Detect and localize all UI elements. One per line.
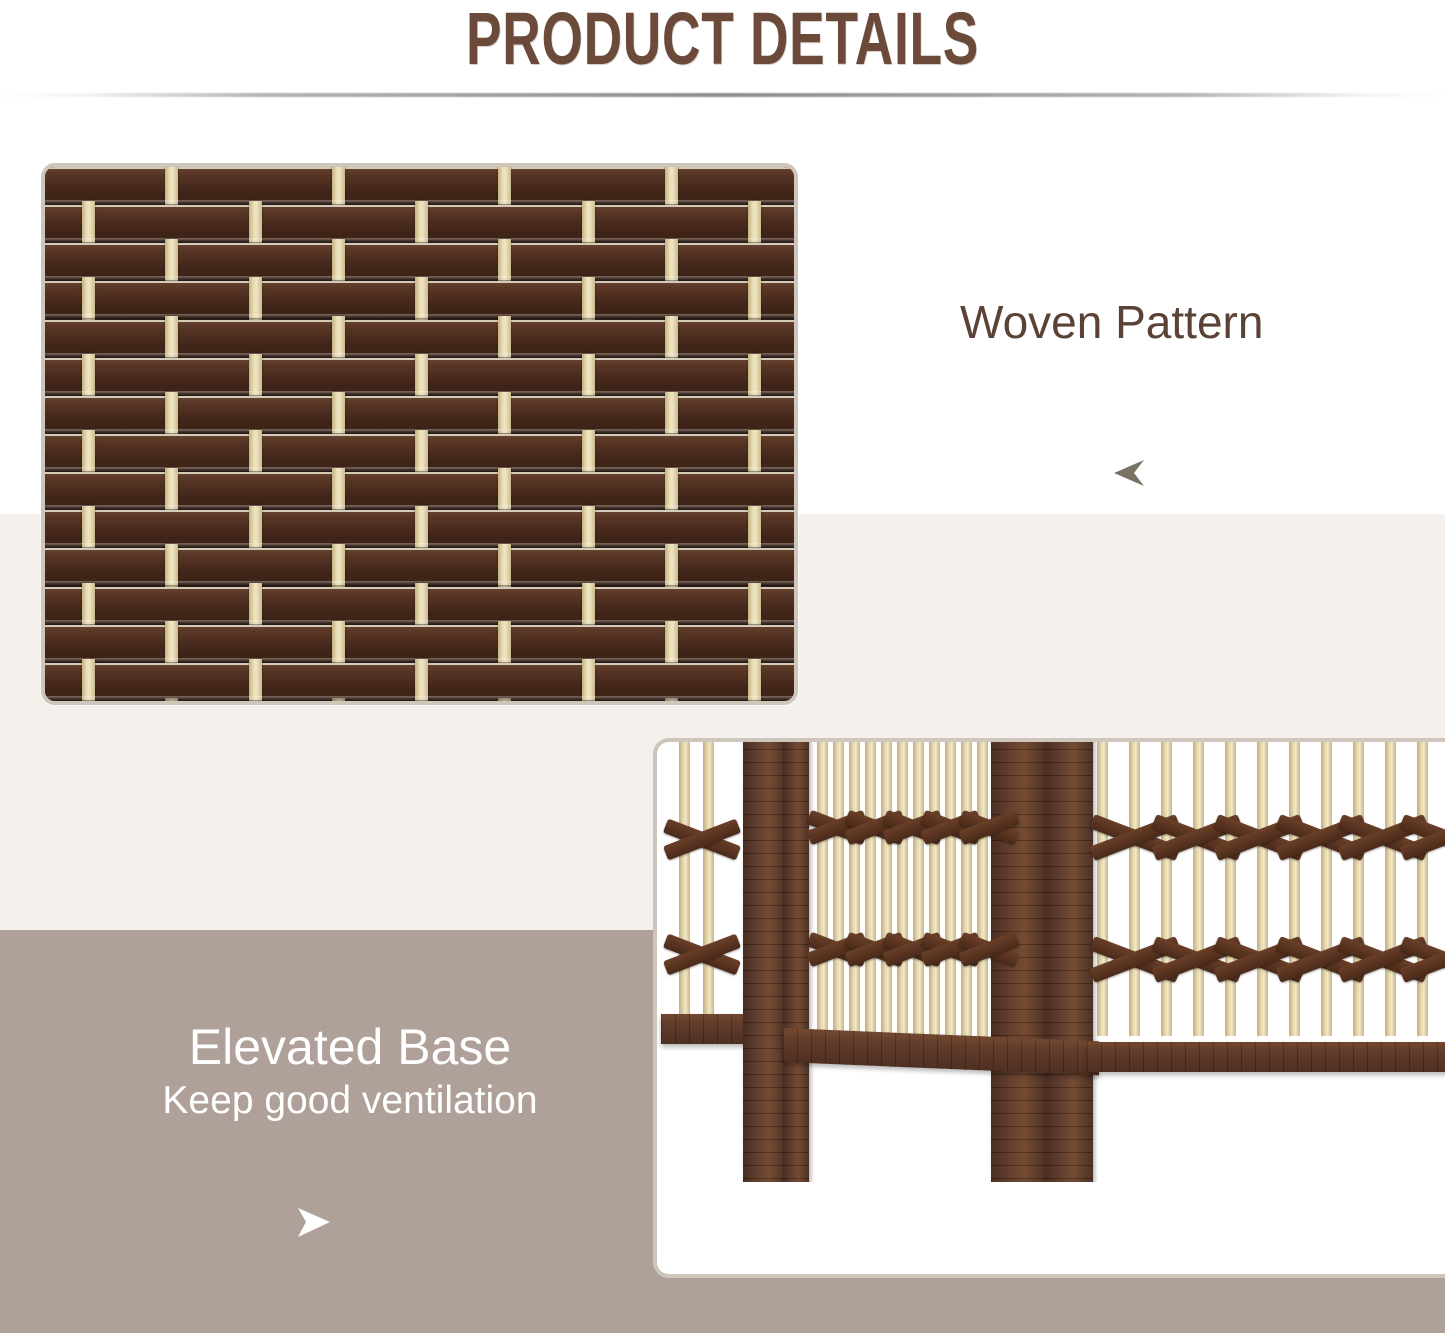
elevated-base-subtitle: Keep good ventilation xyxy=(90,1078,610,1125)
elevated-base-panel xyxy=(653,738,1445,1278)
weave-post-over xyxy=(165,544,178,585)
base-rod xyxy=(833,738,844,1056)
weave-post-over xyxy=(748,201,761,242)
weave-post-over xyxy=(665,316,678,357)
base-rod xyxy=(881,738,892,1056)
base-rod xyxy=(817,738,828,1056)
base-rod xyxy=(945,738,956,1056)
weave-post-over xyxy=(582,659,595,700)
weave-post-over xyxy=(582,201,595,242)
base-rail-right xyxy=(1087,1042,1445,1072)
weave-post-over xyxy=(249,354,262,395)
weave-post-over xyxy=(415,201,428,242)
woven-rattan-panel xyxy=(41,163,798,705)
lattice-x xyxy=(1399,922,1445,996)
weave-post-over xyxy=(165,163,178,204)
weave-post-over xyxy=(415,659,428,700)
weave-post-over xyxy=(582,506,595,547)
weave-post-over xyxy=(498,239,511,280)
weave-post-over xyxy=(82,506,95,547)
header-divider xyxy=(0,93,1445,97)
weave-post-over xyxy=(82,659,95,700)
weave-post-over xyxy=(415,354,428,395)
weave-post-over xyxy=(582,583,595,624)
weave-post-over xyxy=(332,163,345,204)
weave-post-over xyxy=(498,468,511,509)
weave-post-over xyxy=(82,430,95,471)
lattice-x xyxy=(959,790,1019,864)
weave-seam xyxy=(41,238,798,242)
frame-leg xyxy=(783,738,809,1256)
weave-post-over xyxy=(82,201,95,242)
weave-strip xyxy=(41,548,798,583)
weave-strip xyxy=(41,625,798,660)
weave-post-over xyxy=(415,430,428,471)
weave-post-over xyxy=(249,430,262,471)
weave-post-over xyxy=(498,163,511,204)
weave-post-over xyxy=(165,468,178,509)
arrow-left-icon xyxy=(1112,458,1146,488)
base-rod xyxy=(897,738,908,1056)
weave-post-over xyxy=(165,392,178,433)
weave-post-over xyxy=(249,659,262,700)
weave-post-over xyxy=(249,506,262,547)
weave-seam xyxy=(41,543,798,547)
base-rod xyxy=(849,738,860,1056)
weave-post-over xyxy=(332,621,345,662)
weave-post-over xyxy=(165,316,178,357)
lattice-x xyxy=(1399,800,1445,874)
weave-post-over xyxy=(165,239,178,280)
base-rod xyxy=(865,738,876,1056)
weave-post-over xyxy=(665,392,678,433)
frame-leg xyxy=(743,738,787,1236)
lattice-x xyxy=(663,802,741,876)
weave-post-over xyxy=(665,239,678,280)
base-rod xyxy=(913,738,924,1056)
weave-post-over xyxy=(665,468,678,509)
lattice-x xyxy=(959,912,1019,986)
arrow-right-icon xyxy=(292,1206,332,1238)
woven-pattern-label: Woven Pattern xyxy=(960,295,1263,349)
weave-post-over xyxy=(748,506,761,547)
base-rod xyxy=(977,738,988,1056)
weave-post-over xyxy=(748,659,761,700)
weave-seam xyxy=(41,314,798,318)
weave-post-over xyxy=(332,239,345,280)
weave-stage xyxy=(45,167,794,701)
weave-post-over xyxy=(332,316,345,357)
weave-post-over xyxy=(498,621,511,662)
weave-strip xyxy=(41,472,798,507)
weave-post-over xyxy=(415,583,428,624)
weave-post-over xyxy=(82,583,95,624)
weave-post-over xyxy=(498,392,511,433)
weave-post-over xyxy=(665,621,678,662)
weave-post-over xyxy=(582,354,595,395)
weave-post-over xyxy=(748,277,761,318)
weave-post-over xyxy=(582,277,595,318)
base-rod xyxy=(703,742,714,1042)
weave-post-over xyxy=(332,468,345,509)
weave-post-over xyxy=(582,430,595,471)
weave-strip xyxy=(41,396,798,431)
weave-post-over xyxy=(665,163,678,204)
weave-post-over xyxy=(415,506,428,547)
weave-seam xyxy=(41,696,798,700)
weave-post-over xyxy=(748,430,761,471)
base-rod xyxy=(961,738,972,1056)
weave-strip xyxy=(41,167,798,202)
weave-post-over xyxy=(249,277,262,318)
weave-post-over xyxy=(82,277,95,318)
base-rod xyxy=(679,742,690,1042)
weave-post-over xyxy=(82,354,95,395)
floor xyxy=(657,1182,1445,1274)
elevated-base-title: Elevated Base xyxy=(90,1020,610,1074)
weave-post-over xyxy=(249,201,262,242)
weave-post-over xyxy=(165,621,178,662)
weave-strip xyxy=(41,320,798,355)
photo-stage xyxy=(657,742,1445,1274)
elevated-base-callout: Elevated Base Keep good ventilation xyxy=(90,1020,610,1125)
weave-seam xyxy=(41,467,798,471)
weave-post-over xyxy=(498,544,511,585)
weave-post-over xyxy=(748,583,761,624)
weave-post-over xyxy=(748,354,761,395)
weave-post-over xyxy=(498,316,511,357)
weave-post-over xyxy=(415,277,428,318)
weave-seam xyxy=(41,391,798,395)
weave-post-over xyxy=(249,583,262,624)
weave-post-over xyxy=(332,392,345,433)
weave-post-over xyxy=(665,544,678,585)
base-rod xyxy=(929,738,940,1056)
weave-strip xyxy=(41,243,798,278)
lattice-x xyxy=(663,917,741,991)
weave-seam xyxy=(41,620,798,624)
page-title: PRODUCT DETAILS xyxy=(202,0,1242,81)
weave-post-over xyxy=(332,544,345,585)
